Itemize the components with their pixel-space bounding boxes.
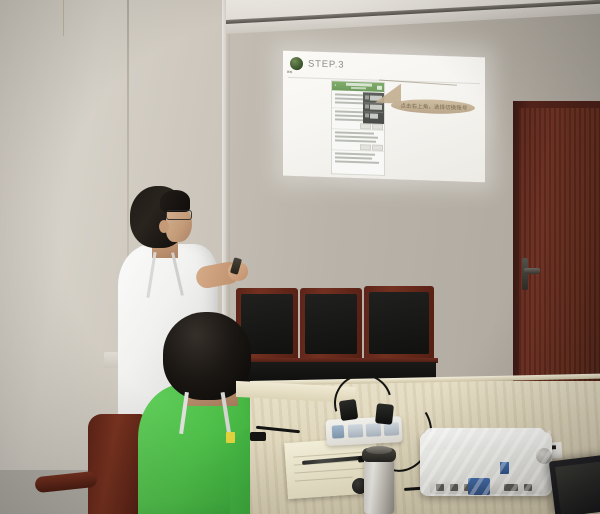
thermos-lid-top <box>366 446 392 454</box>
company-logo-icon <box>290 57 303 70</box>
chair-back-3 <box>364 286 434 360</box>
door-handle[interactable] <box>524 268 540 274</box>
attendee-badge <box>226 432 235 443</box>
door[interactable] <box>519 108 600 408</box>
presenter-ear <box>159 220 169 233</box>
glasses-icon <box>166 210 192 220</box>
vga-connector <box>468 478 490 495</box>
projector-badge <box>500 462 509 474</box>
door-lock-plate <box>522 258 528 290</box>
wall-seam-minor <box>63 0 64 36</box>
power-plug-2 <box>375 403 394 425</box>
wall-outlet <box>104 352 118 368</box>
projection-screen: 图标 STEP.3 ‹ <box>283 51 485 183</box>
phone-header-subtitle <box>351 87 366 90</box>
cable-plug-left <box>250 432 266 441</box>
phone-back-icon: ‹ <box>335 83 337 88</box>
slide-step-title: STEP.3 <box>308 58 344 70</box>
projector-top <box>424 428 546 450</box>
slide: 图标 STEP.3 ‹ <box>283 51 485 183</box>
photo-scene: 图标 STEP.3 ‹ <box>0 0 600 514</box>
chair-back-2 <box>300 288 362 360</box>
company-logo-caption: 图标 <box>287 70 293 74</box>
presenter-hair <box>160 190 190 212</box>
laptop-screen[interactable] <box>555 461 600 514</box>
power-plug-1 <box>339 399 359 421</box>
